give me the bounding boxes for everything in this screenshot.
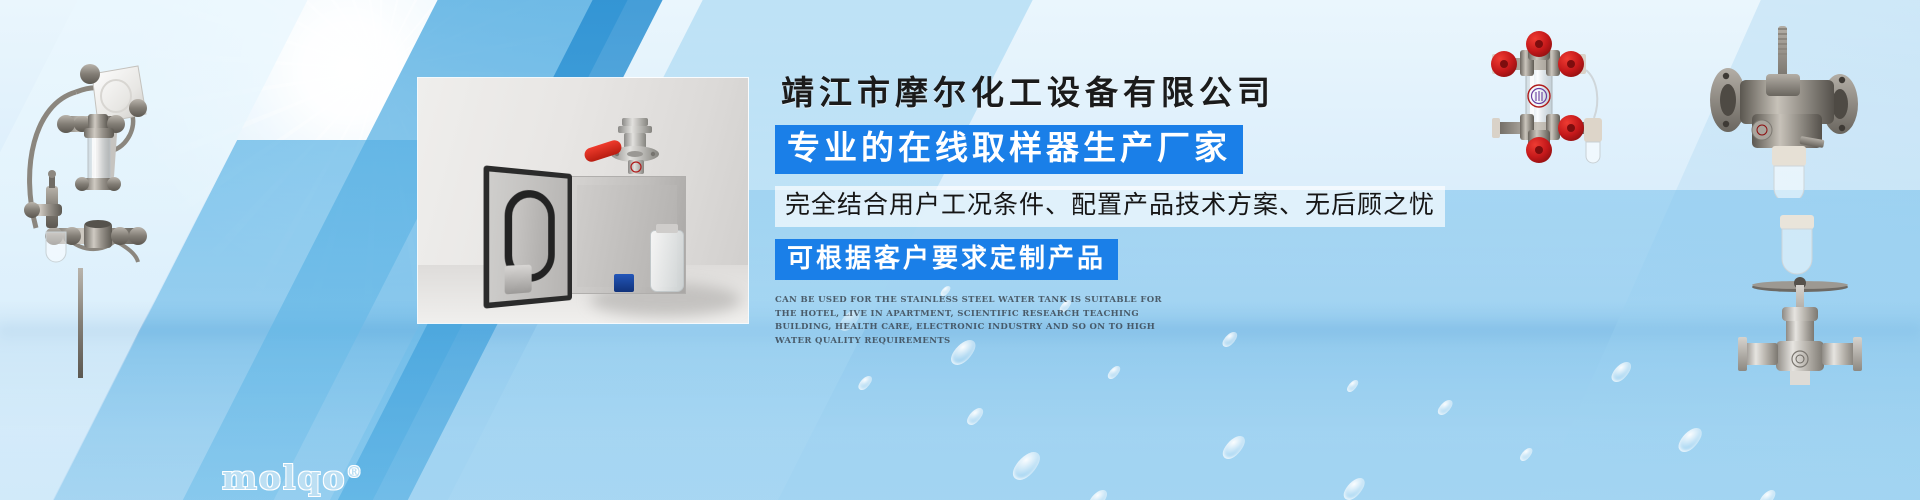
slogan-sub-row: 可根据客户要求定制产品 (775, 239, 1475, 280)
right-cross-valve-image (1490, 30, 1690, 170)
slogan-sub-highlight: 可根据客户要求定制产品 (775, 239, 1118, 280)
promo-banner: 靖江市摩尔化工设备有限公司 专业的在线取样器生产厂家 完全结合用户工况条件、配置… (0, 0, 1920, 500)
slogan-detail: 完全结合用户工况条件、配置产品技术方案、无后顾之忧 (775, 186, 1445, 227)
watermark-logo: molqo® (222, 458, 364, 497)
english-description: CAN BE USED FOR THE STAINLESS STEEL WATE… (775, 294, 1175, 349)
right-flanged-valve-image (1700, 18, 1870, 198)
watermark-text: molqo (222, 458, 347, 497)
valve-handwheel-right (1558, 51, 1584, 77)
valve-handwheel-top (1526, 31, 1552, 57)
slogan-detail-row: 完全结合用户工况条件、配置产品技术方案、无后顾之忧 (775, 174, 1475, 227)
valve-handwheel-left (1491, 51, 1517, 77)
left-equipment-image (10, 18, 270, 378)
center-product-photo (418, 78, 748, 323)
slogan-main-highlight: 专业的在线取样器生产厂家 (775, 125, 1243, 174)
banner-text-block: 靖江市摩尔化工设备有限公司 专业的在线取样器生产厂家 完全结合用户工况条件、配置… (775, 72, 1475, 349)
registered-mark: ® (347, 463, 364, 481)
company-name: 靖江市摩尔化工设备有限公司 (775, 72, 1475, 113)
valve-handwheel-lower-right (1558, 115, 1584, 141)
valve-handwheel-bottom (1526, 137, 1552, 163)
slogan-main-row: 专业的在线取样器生产厂家 (775, 125, 1475, 174)
right-bottom-valve-image (1730, 215, 1870, 385)
